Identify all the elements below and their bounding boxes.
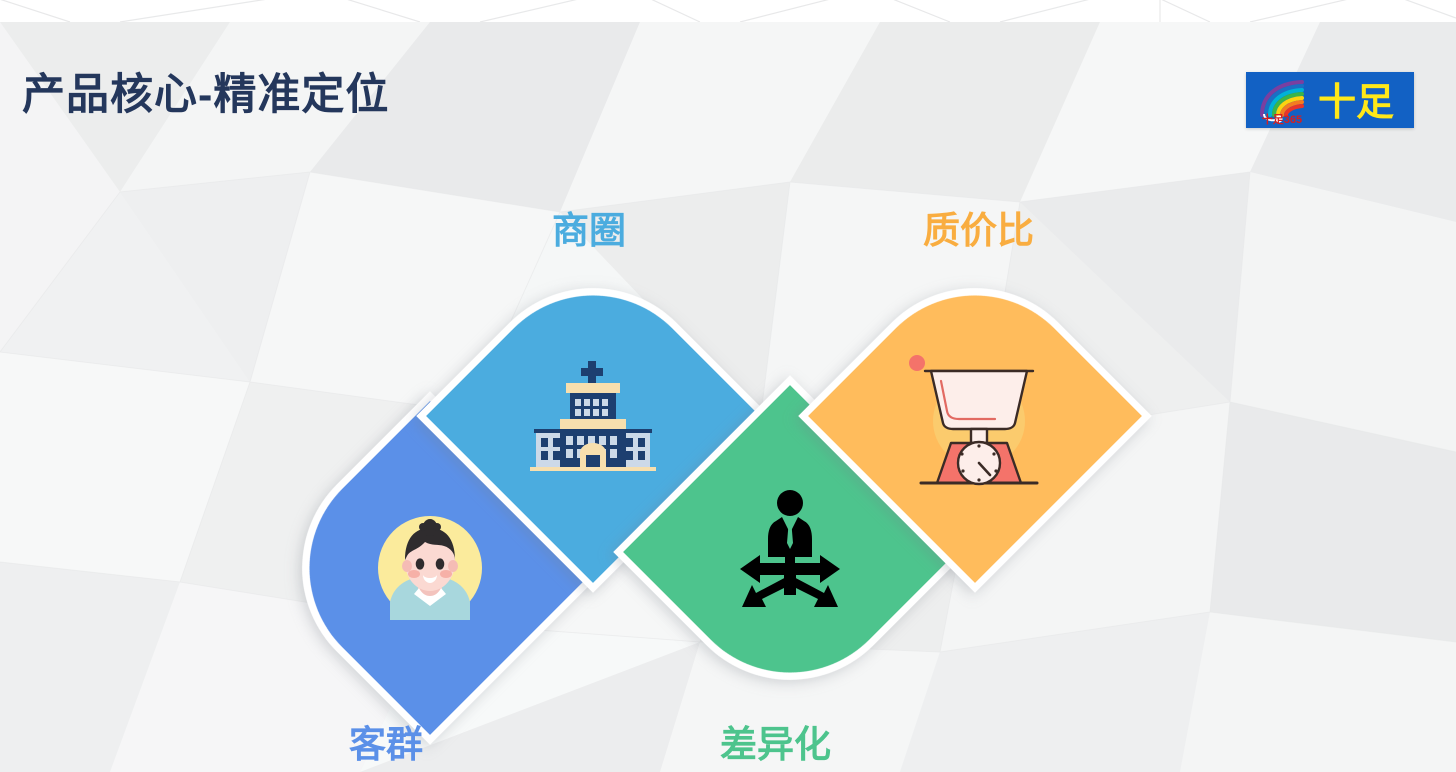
label-differentiation: 差异化 [720, 726, 831, 763]
label-customer-group: 客群 [349, 726, 423, 763]
page-title: 产品核心-精准定位 [22, 74, 389, 117]
label-quality-price-ratio: 质价比 [923, 212, 1034, 249]
label-trade-area: 商圈 [552, 212, 626, 249]
node-quality-price-ratio[interactable] [850, 291, 1100, 541]
logo-wordmark: 十足 [1318, 82, 1394, 124]
slide-canvas: 产品核心-精准定位 十足365 十足 [0, 0, 1456, 772]
brand-logo[interactable]: 十足365 十足 [1246, 72, 1414, 128]
top-decorative-strip [0, 0, 1456, 22]
svg-text:十足365: 十足365 [1262, 112, 1302, 126]
